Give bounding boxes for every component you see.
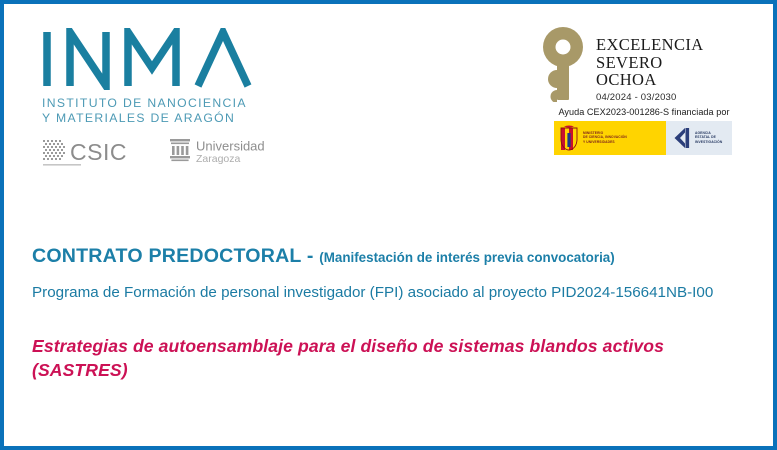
ministry-government-logo: MINISTERIO DE CIENCIA, INNOVACIÓN Y UNIV… (554, 121, 666, 155)
ministry-gov-line-3: Y UNIVERSIDADES (583, 140, 627, 144)
ministry-logos-row: MINISTERIO DE CIENCIA, INNOVACIÓN Y UNIV… (554, 121, 732, 155)
severo-ochoa-dates: 04/2024 - 03/2030 (596, 92, 704, 103)
severo-ochoa-line-1: EXCELENCIA (596, 36, 704, 54)
spain-coat-of-arms-icon (558, 125, 580, 151)
severo-ochoa-badge: EXCELENCIA SEVERO OCHOA 04/2024 - 03/203… (538, 26, 750, 155)
severo-ochoa-wordmark: EXCELENCIA SEVERO OCHOA 04/2024 - 03/203… (596, 26, 704, 103)
announcement-content: CONTRATO PREDOCTORAL - (Manifestación de… (4, 244, 773, 382)
aei-emblem-icon (671, 127, 692, 149)
inma-subtitle: INSTITUTO DE NANOCIENCIA Y MATERIALES DE… (42, 96, 292, 126)
headline-main-text: CONTRATO PREDOCTORAL - (32, 245, 319, 267)
institution-logos-row: CSIC Universidad Zaragoz (42, 136, 292, 168)
svg-text:Universidad: Universidad (196, 139, 265, 154)
project-title: Estrategias de autoensamblaje para el di… (32, 334, 722, 382)
csic-logo-icon: CSIC (42, 137, 154, 168)
severo-ochoa-line-2: SEVERO (596, 54, 704, 72)
ministry-agency-text: AGENCIA ESTATAL DE INVESTIGACIÓN (695, 131, 722, 144)
header-logos-band: INSTITUTO DE NANOCIENCIA Y MATERIALES DE… (4, 4, 773, 184)
severo-ochoa-key-icon (538, 26, 588, 102)
ministry-gov-line-2: DE CIENCIA, INNOVACIÓN (583, 135, 627, 139)
headline-sub-text: (Manifestación de interés previa convoca… (319, 250, 614, 265)
svg-text:CSIC: CSIC (70, 139, 127, 165)
inma-logo-block: INSTITUTO DE NANOCIENCIA Y MATERIALES DE… (42, 28, 292, 168)
poster-page: INSTITUTO DE NANOCIENCIA Y MATERIALES DE… (0, 0, 777, 450)
ministry-agency-logo: AGENCIA ESTATAL DE INVESTIGACIÓN (666, 121, 732, 155)
funding-note: Ayuda CEX2023-001286-S financiada por (538, 107, 750, 117)
inma-subtitle-line-1: INSTITUTO DE NANOCIENCIA (42, 96, 292, 111)
severo-ochoa-top-row: EXCELENCIA SEVERO OCHOA 04/2024 - 03/203… (538, 26, 750, 103)
severo-ochoa-line-3: OCHOA (596, 71, 704, 89)
announcement-headline: CONTRATO PREDOCTORAL - (Manifestación de… (32, 244, 745, 270)
universidad-zaragoza-logo-icon: Universidad Zaragoza (168, 136, 272, 168)
ministry-aei-line-3: INVESTIGACIÓN (695, 140, 722, 144)
inma-subtitle-line-2: Y MATERIALES DE ARAGÓN (42, 111, 292, 126)
ministry-government-text: MINISTERIO DE CIENCIA, INNOVACIÓN Y UNIV… (583, 131, 627, 143)
svg-text:Zaragoza: Zaragoza (196, 153, 241, 165)
inma-wordmark-icon (42, 28, 260, 90)
program-description: Programa de Formación de personal invest… (32, 283, 722, 304)
